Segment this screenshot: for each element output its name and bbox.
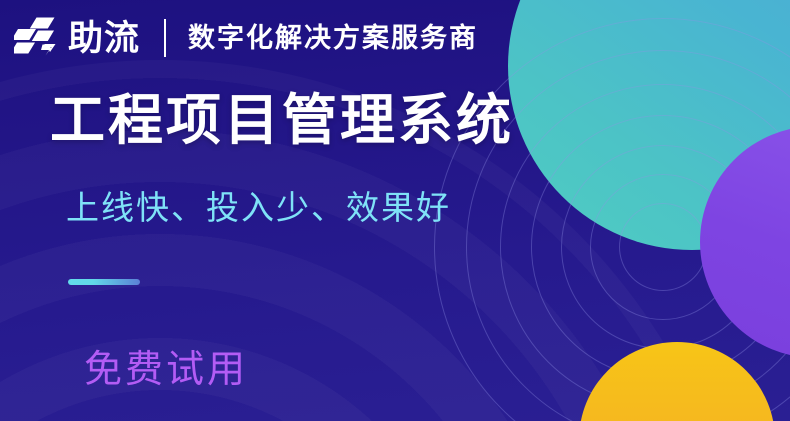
header-divider bbox=[164, 19, 166, 57]
free-trial-cta[interactable]: 免费试用 bbox=[84, 350, 248, 392]
accent-rule bbox=[68, 279, 140, 285]
brand-header: 助流 数字化解决方案服务商 bbox=[14, 12, 478, 64]
promo-banner: 助流 数字化解决方案服务商 工程项目管理系统 上线快、投入少、效果好 免费试用 bbox=[0, 0, 790, 421]
brand-tagline: 数字化解决方案服务商 bbox=[188, 25, 478, 52]
hero-subtitle: 上线快、投入少、效果好 bbox=[66, 190, 451, 226]
page-title: 工程项目管理系统 bbox=[50, 90, 514, 151]
brand-name: 助流 bbox=[68, 21, 140, 56]
zhuliu-logo-icon bbox=[14, 16, 62, 60]
